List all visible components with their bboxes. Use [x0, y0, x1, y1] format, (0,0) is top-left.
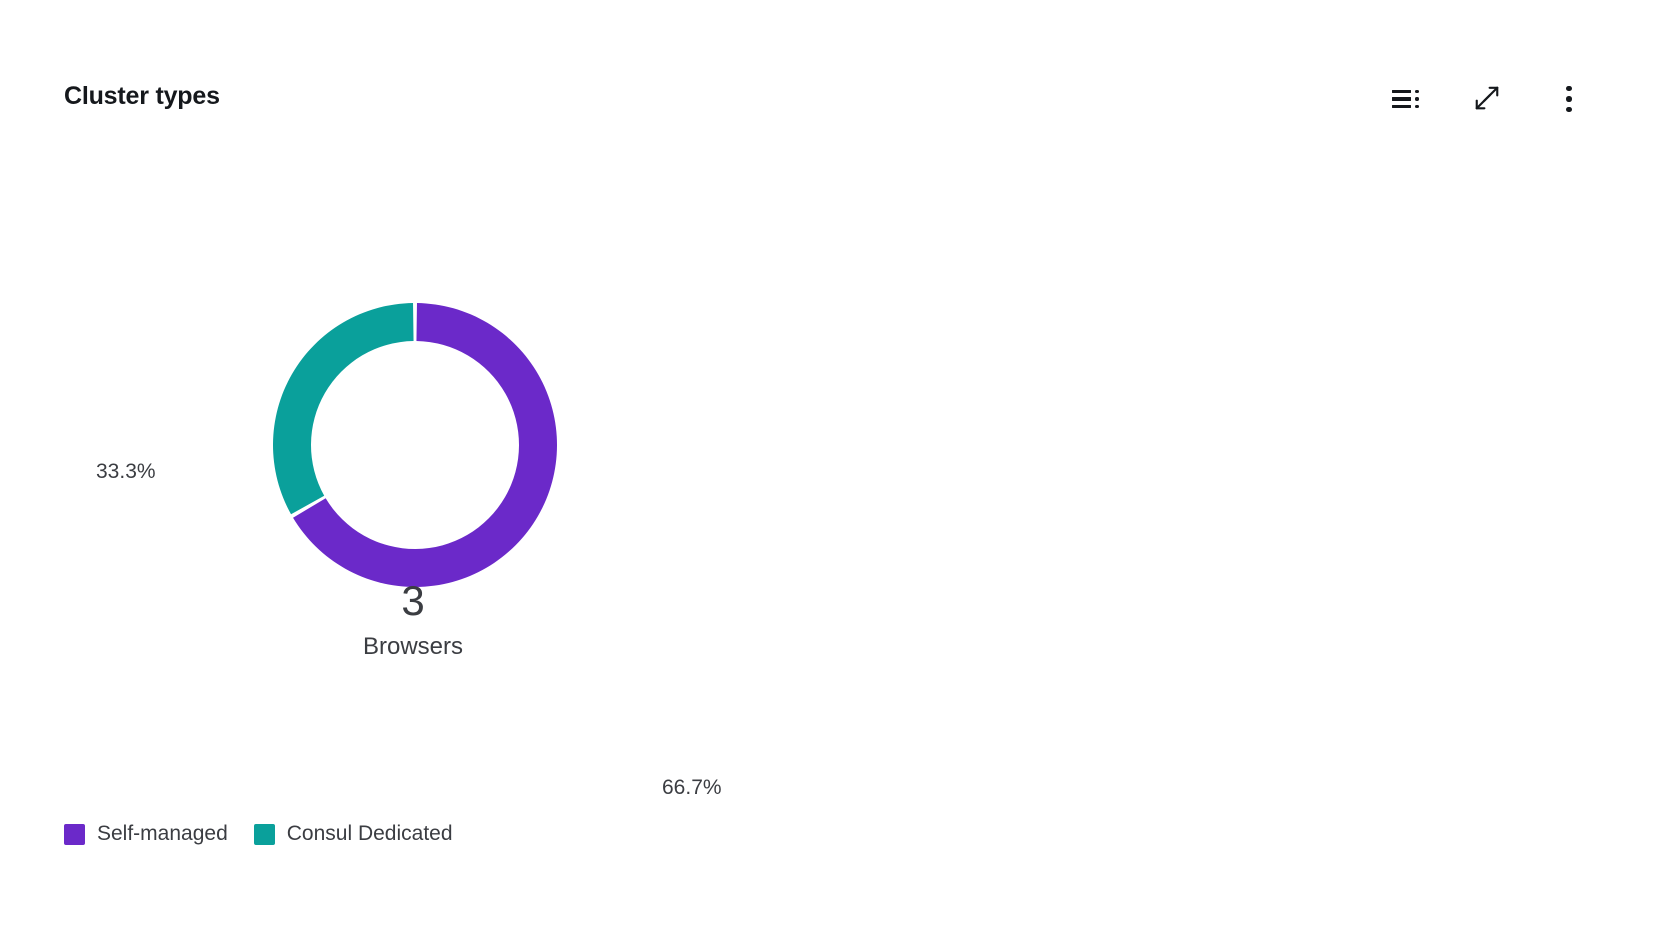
expand-button[interactable]: [1470, 82, 1504, 116]
page-title: Cluster types: [64, 82, 220, 111]
legend-toggle-button[interactable]: [1388, 82, 1422, 116]
legend-swatch-self-managed: [64, 824, 85, 845]
kebab-menu-icon: [1566, 86, 1572, 112]
donut-svg: [150, 180, 680, 710]
panel-toolbar: [1388, 82, 1586, 116]
expand-arrows-icon: [1472, 83, 1502, 116]
slice-label-self-managed: 66.7%: [662, 776, 722, 800]
legend-list-icon: [1392, 88, 1419, 110]
legend-item-self-managed[interactable]: Self-managed: [64, 822, 228, 846]
legend-swatch-consul-dedicated: [254, 824, 275, 845]
donut-slice[interactable]: [273, 303, 414, 514]
chart-area: 33.3% 66.7% 3 Browsers: [0, 140, 1672, 780]
panel-header: Cluster types: [0, 0, 1672, 140]
legend-label-self-managed: Self-managed: [97, 822, 228, 846]
legend-label-consul-dedicated: Consul Dedicated: [287, 822, 453, 846]
donut-chart: [150, 180, 680, 710]
more-options-button[interactable]: [1552, 82, 1586, 116]
cluster-types-panel: Cluster types: [0, 0, 1672, 928]
slice-label-consul-dedicated: 33.3%: [96, 460, 156, 484]
legend-item-consul-dedicated[interactable]: Consul Dedicated: [254, 822, 453, 846]
chart-legend: Self-managed Consul Dedicated: [64, 822, 453, 846]
